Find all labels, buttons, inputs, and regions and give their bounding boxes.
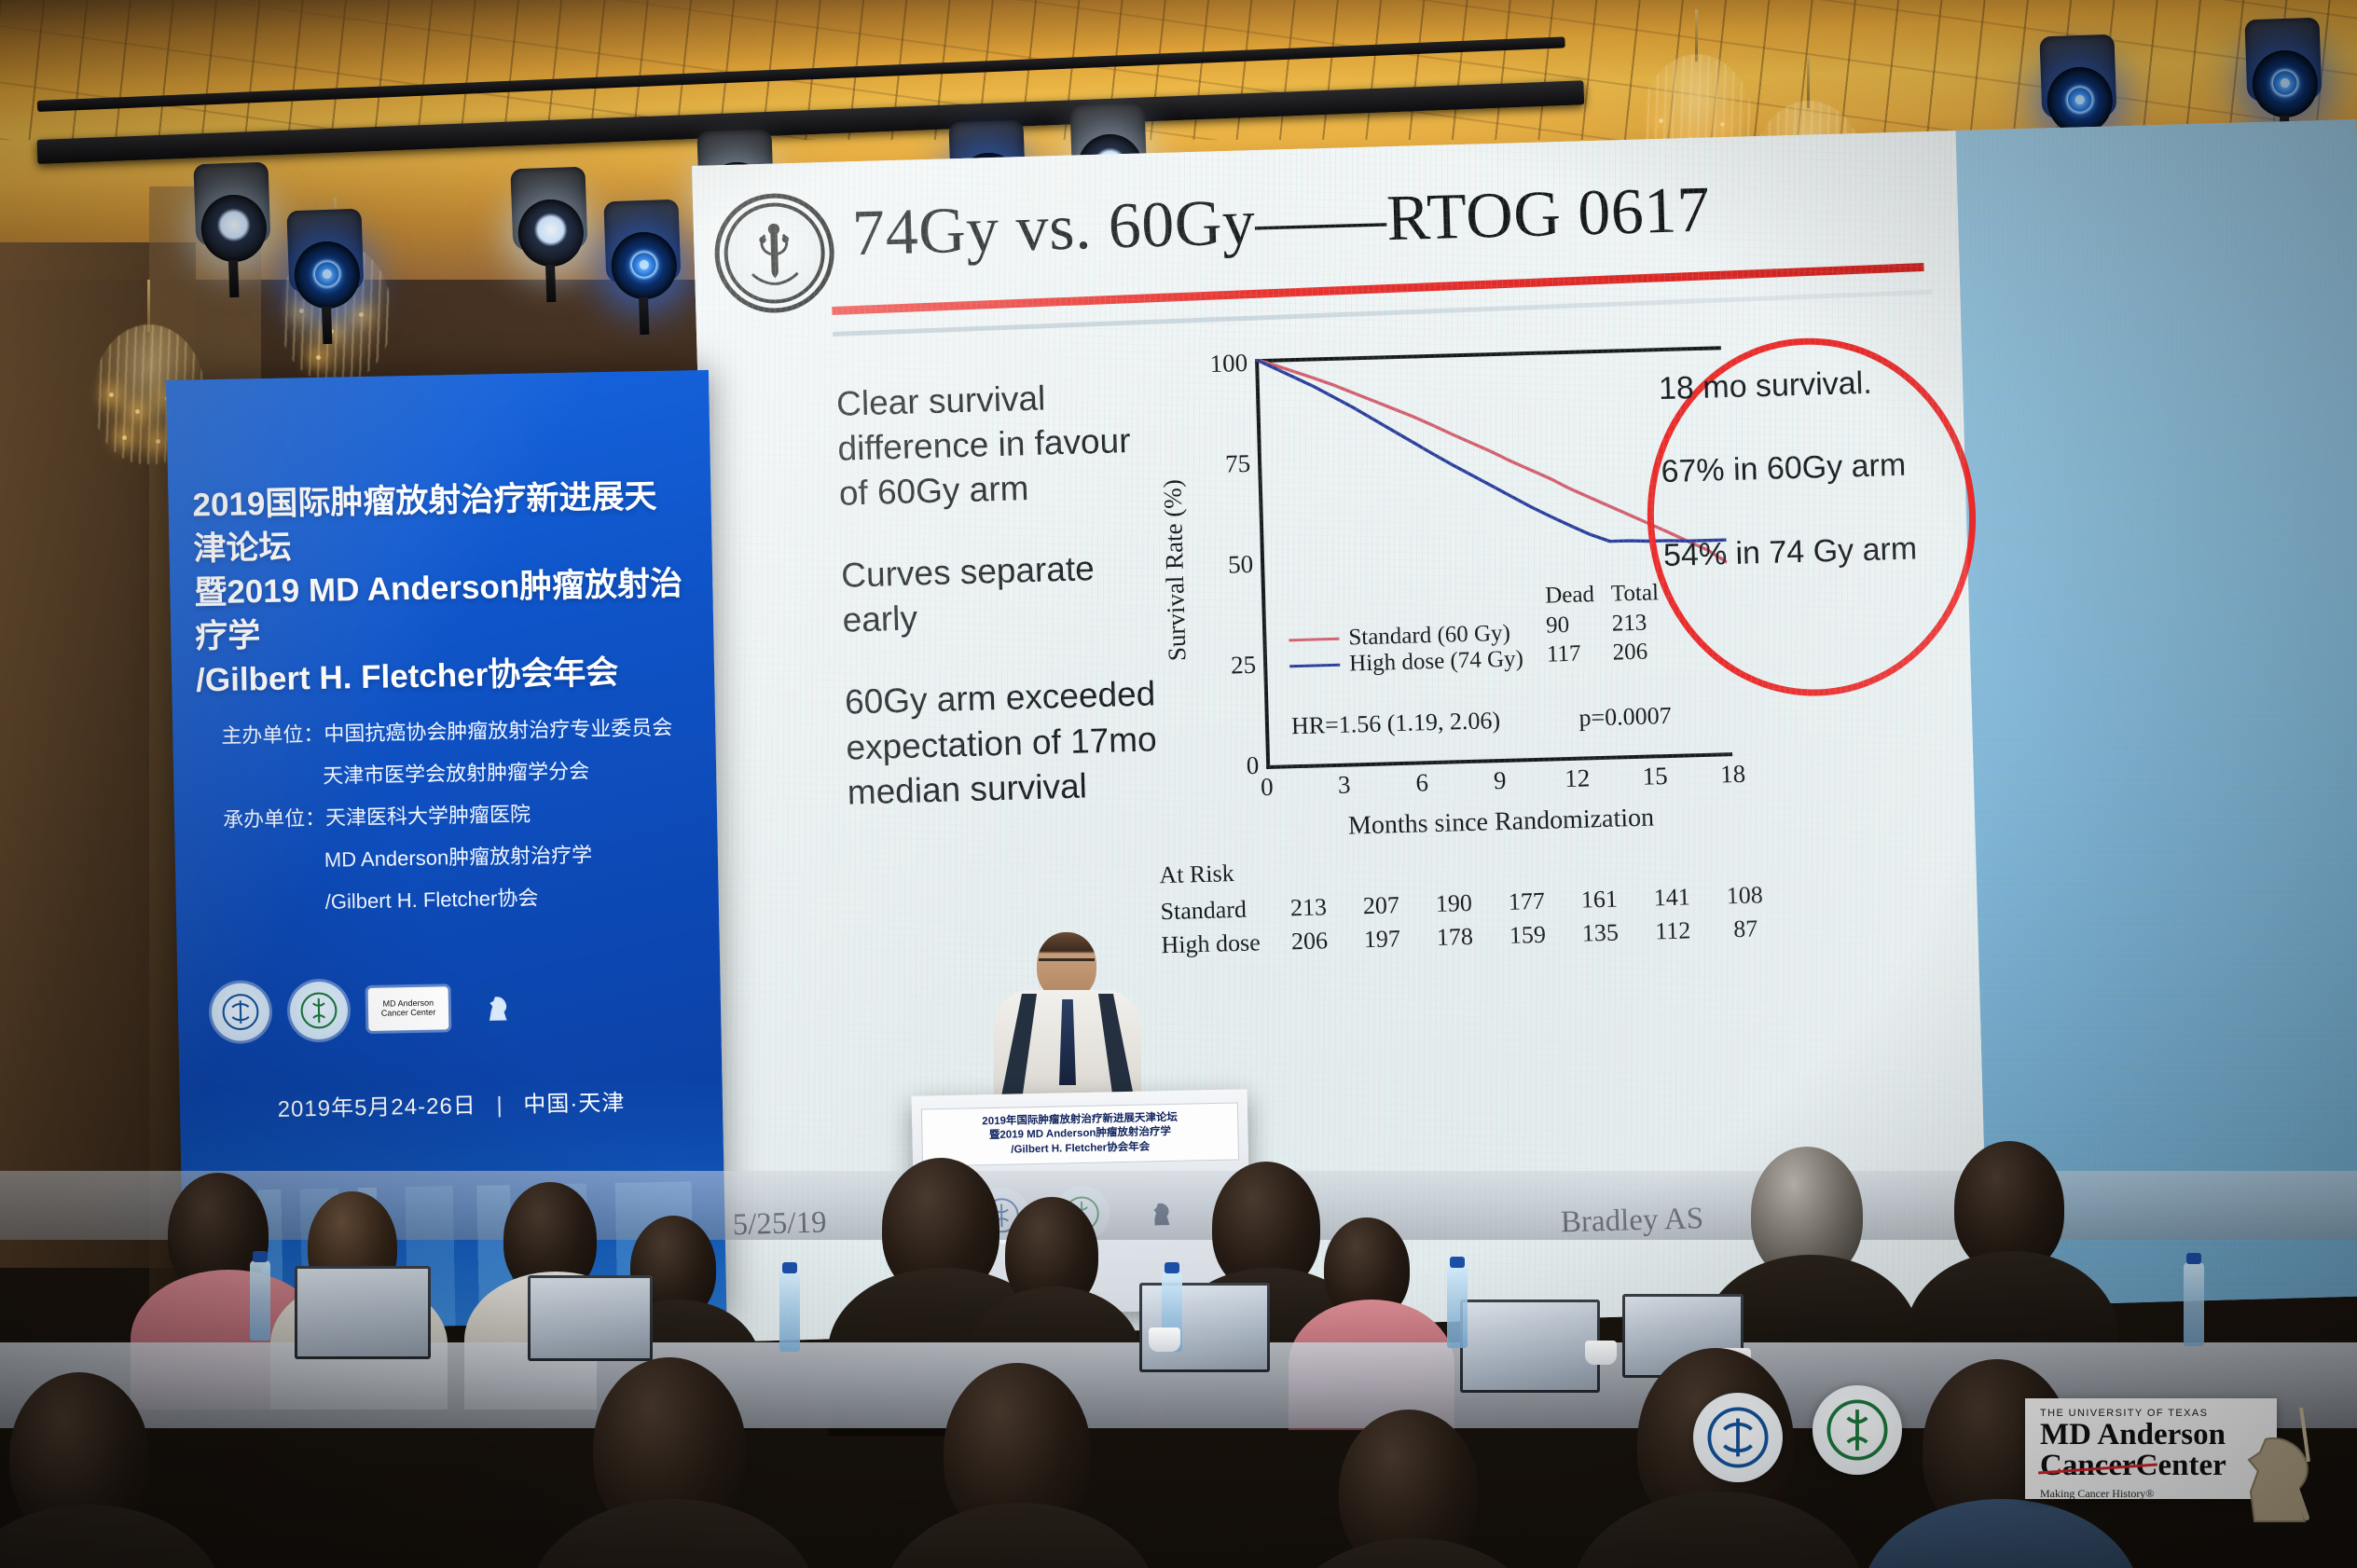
dead-standard: 90 xyxy=(1546,610,1611,639)
speaker-glasses xyxy=(1039,958,1095,970)
university-seal-icon xyxy=(713,192,836,315)
knight-statue xyxy=(2219,1382,2331,1531)
medical-association-seal-icon xyxy=(1813,1385,1902,1475)
legend-swatch-icon xyxy=(1289,637,1339,641)
at-risk-cell: 206 xyxy=(1273,924,1346,959)
y-tick: 75 xyxy=(1225,449,1251,479)
at-risk-cell: 161 xyxy=(1563,882,1636,917)
callout-line-1: 18 mo survival. xyxy=(1659,364,1977,407)
laptop xyxy=(1460,1300,1600,1393)
coffee-cup xyxy=(1585,1341,1617,1365)
slide-title: 74Gy vs. 60Gy——RTOG 0617 xyxy=(851,167,1935,271)
x-tick: 0 xyxy=(1261,773,1274,802)
at-risk-cell: 197 xyxy=(1345,922,1419,957)
audience-shoulders xyxy=(0,1505,224,1568)
water-bottle xyxy=(1447,1266,1468,1348)
audience-shoulders xyxy=(1572,1492,1865,1568)
dead-total-table: Dead Total 90 213 117 206 xyxy=(1543,577,1677,670)
title-underline-red xyxy=(832,263,1923,315)
title-underline-gray xyxy=(833,290,1932,337)
x-tick: 12 xyxy=(1564,763,1591,793)
at-risk-cell: 87 xyxy=(1709,912,1783,947)
water-bottle xyxy=(250,1260,270,1341)
at-risk-cell: 159 xyxy=(1491,917,1564,953)
at-risk-row-label: Standard xyxy=(1160,892,1273,928)
dead-header: Dead xyxy=(1545,581,1610,610)
at-risk-cell: 213 xyxy=(1272,890,1345,926)
at-risk-cell: 108 xyxy=(1708,878,1782,914)
y-tick: 50 xyxy=(1228,550,1254,580)
x-tick: 9 xyxy=(1494,766,1507,795)
at-risk-cell: 190 xyxy=(1417,886,1491,921)
audience-shoulders xyxy=(530,1499,817,1568)
audience-shoulders xyxy=(1861,1499,2141,1568)
x-axis-label: Months since Randomization xyxy=(1348,803,1655,841)
at-risk-cell: 135 xyxy=(1564,915,1637,951)
at-risk-cell: 112 xyxy=(1636,914,1710,949)
total-highdose: 206 xyxy=(1612,638,1675,667)
stage-light-blue xyxy=(594,199,692,341)
stage-light-white xyxy=(501,166,599,309)
y-tick: 25 xyxy=(1231,651,1257,681)
at-risk-cell: 141 xyxy=(1635,880,1709,915)
slide-bullets: Clear survival difference in favour of 6… xyxy=(836,373,1176,852)
hr-value: HR=1.56 (1.19, 2.06) xyxy=(1291,707,1501,739)
callout-line-3: 54% in 74 Gy arm xyxy=(1663,530,1981,573)
legend-label: High dose (74 Gy) xyxy=(1349,646,1523,677)
audience-shoulders xyxy=(1283,1538,1542,1568)
audience xyxy=(0,971,2357,1568)
stage-light-white xyxy=(184,161,282,304)
p-value: p=0.0007 xyxy=(1578,702,1672,732)
water-bottle xyxy=(779,1272,800,1352)
coffee-cup xyxy=(1149,1327,1180,1352)
stage-light-blue xyxy=(277,208,375,351)
x-tick: 15 xyxy=(1642,762,1668,791)
legend-swatch-icon xyxy=(1289,663,1340,667)
y-tick: 0 xyxy=(1246,751,1259,780)
y-axis-label: Survival Rate (%) xyxy=(1158,479,1192,662)
water-bottle xyxy=(2184,1262,2204,1346)
at-risk-cell: 177 xyxy=(1490,884,1564,919)
at-risk-table: At Risk Standard 213 207 190 177 161 141… xyxy=(1159,845,1783,963)
x-tick: 18 xyxy=(1720,760,1746,790)
at-risk-cell: 207 xyxy=(1344,888,1418,924)
laptop xyxy=(528,1275,653,1361)
chinese-anti-cancer-association-seal-icon xyxy=(1693,1393,1783,1482)
y-tick: 100 xyxy=(1209,349,1247,378)
bullet-1: Clear survival difference in favour of 6… xyxy=(836,373,1166,516)
x-tick: 3 xyxy=(1338,771,1351,800)
at-risk-row-label: High dose xyxy=(1161,926,1274,962)
bullet-2: Curves separate early xyxy=(841,544,1170,643)
bullet-3: 60Gy arm exceeded expectation of 17mo me… xyxy=(844,671,1174,815)
callout-text: 18 mo survival. 67% in 60Gy arm 54% in 7… xyxy=(1659,364,1982,623)
conference-photo: 74Gy vs. 60Gy——RTOG 0617 Clear survival … xyxy=(0,0,2357,1568)
laptop xyxy=(295,1266,431,1359)
audience-shoulders xyxy=(882,1503,1158,1568)
x-tick: 6 xyxy=(1415,768,1428,797)
callout-line-2: 67% in 60Gy arm xyxy=(1661,447,1978,490)
at-risk-cell: 178 xyxy=(1418,919,1492,955)
chart-legend: Standard (60 Gy) High dose (74 Gy) xyxy=(1289,620,1523,679)
dead-highdose: 117 xyxy=(1547,640,1612,668)
